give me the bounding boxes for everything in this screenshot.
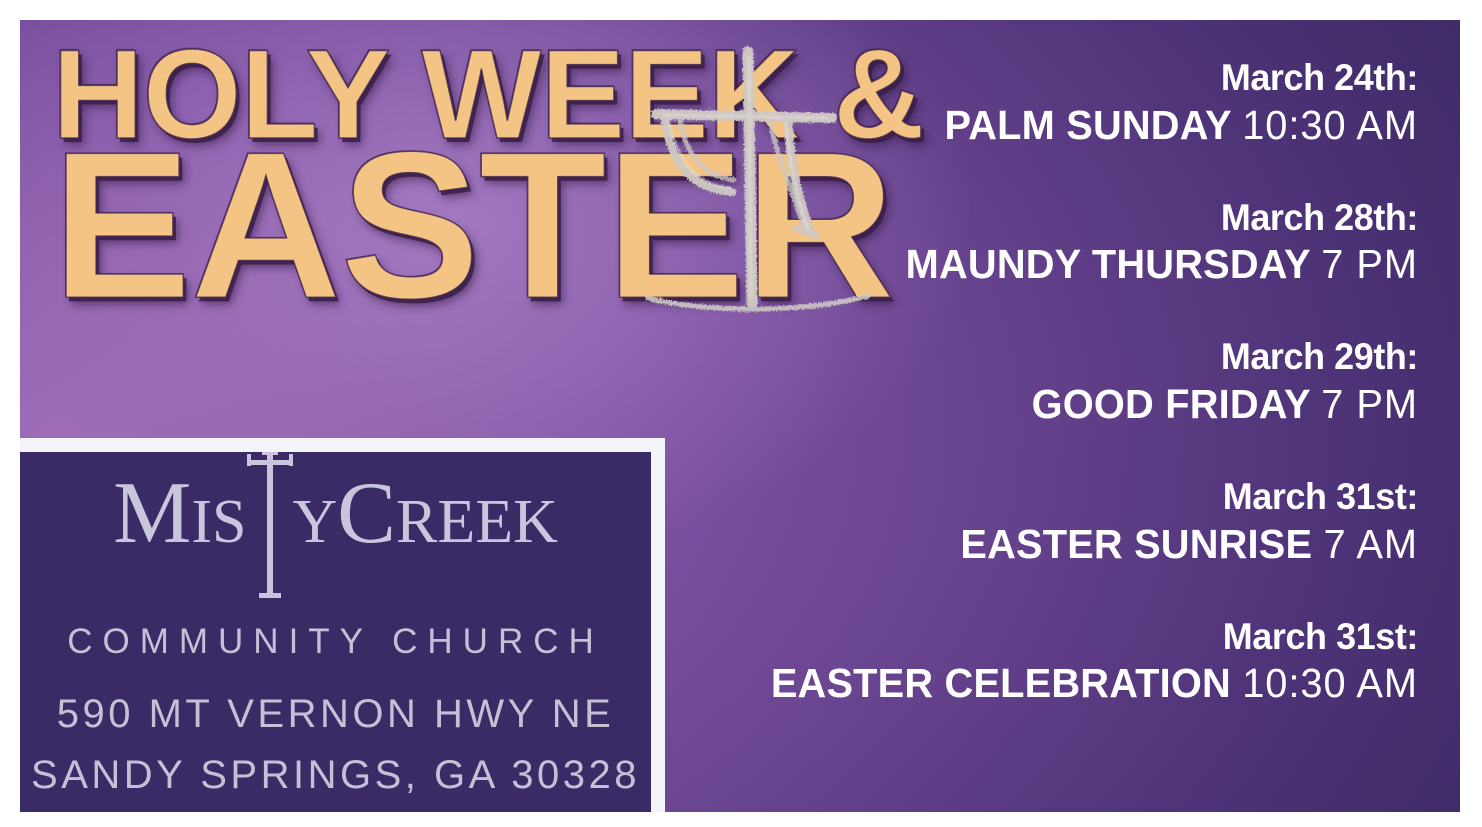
schedule-event-time: 7 PM [1321, 241, 1418, 287]
schedule-event-name: MAUNDY THURSDAY [906, 241, 1310, 287]
wordmark-m: M [113, 465, 191, 562]
schedule-date: March 31st: [720, 615, 1418, 659]
wordmark-is: IS [191, 488, 246, 556]
schedule-event: EASTER SUNRISE 7 AM [720, 519, 1418, 569]
schedule-event: MAUNDY THURSDAY 7 PM [720, 239, 1418, 289]
address-line-2: SANDY SPRINGS, GA 30328 [20, 745, 651, 806]
schedule-event: GOOD FRIDAY 7 PM [720, 379, 1418, 429]
schedule-event-name: EASTER CELEBRATION [771, 660, 1231, 706]
church-address: 590 MT VERNON HWY NE SANDY SPRINGS, GA 3… [20, 684, 651, 806]
address-line-1: 590 MT VERNON HWY NE [20, 684, 651, 745]
schedule-event-name: EASTER SUNRISE [960, 521, 1312, 567]
headline-line-2: EASTER [52, 130, 684, 322]
easter-flyer-artboard: HOLY WEEK & EASTER [20, 20, 1460, 812]
schedule-item: March 24th: PALM SUNDAY 10:30 AM [698, 56, 1418, 150]
schedule-event-name: PALM SUNDAY [944, 102, 1230, 148]
schedule-event-time: 10:30 AM [1242, 660, 1418, 706]
schedule-item: March 28th: MAUNDY THURSDAY 7 PM [698, 196, 1418, 290]
cross-letter-t-icon [248, 480, 292, 542]
church-tagline: COMMUNITY CHURCH [20, 622, 651, 662]
schedule-date: March 29th: [720, 335, 1418, 379]
headline-block: HOLY WEEK & EASTER [52, 36, 672, 319]
schedule-item: March 31st: EASTER SUNRISE 7 AM [698, 475, 1418, 569]
schedule-item: March 29th: GOOD FRIDAY 7 PM [698, 335, 1418, 429]
schedule-item: March 31st: EASTER CELEBRATION 10:30 AM [698, 615, 1418, 709]
schedule-event-name: GOOD FRIDAY [1032, 381, 1310, 427]
schedule-date: March 31st: [720, 475, 1418, 519]
schedule-event-time: 7 PM [1321, 381, 1418, 427]
church-wordmark: MISYCREEK [20, 470, 651, 558]
schedule-date: March 28th: [720, 196, 1418, 240]
schedule-event: EASTER CELEBRATION 10:30 AM [720, 658, 1418, 708]
wordmark-y: Y [293, 488, 338, 556]
schedule-date: March 24th: [720, 56, 1418, 100]
schedule-event-time: 10:30 AM [1242, 102, 1418, 148]
schedule-event-time: 7 AM [1323, 521, 1418, 567]
wordmark-reek: REEK [396, 488, 558, 556]
church-logo-plate: MISYCREEK COMMUNITY CHURCH 590 MT VERNON… [20, 452, 651, 812]
service-schedule-list: March 24th: PALM SUNDAY 10:30 AM March 2… [698, 56, 1418, 708]
wordmark-c: C [337, 465, 396, 562]
schedule-event: PALM SUNDAY 10:30 AM [720, 100, 1418, 150]
page-canvas: HOLY WEEK & EASTER [0, 0, 1482, 827]
church-logo-frame: MISYCREEK COMMUNITY CHURCH 590 MT VERNON… [20, 438, 665, 812]
